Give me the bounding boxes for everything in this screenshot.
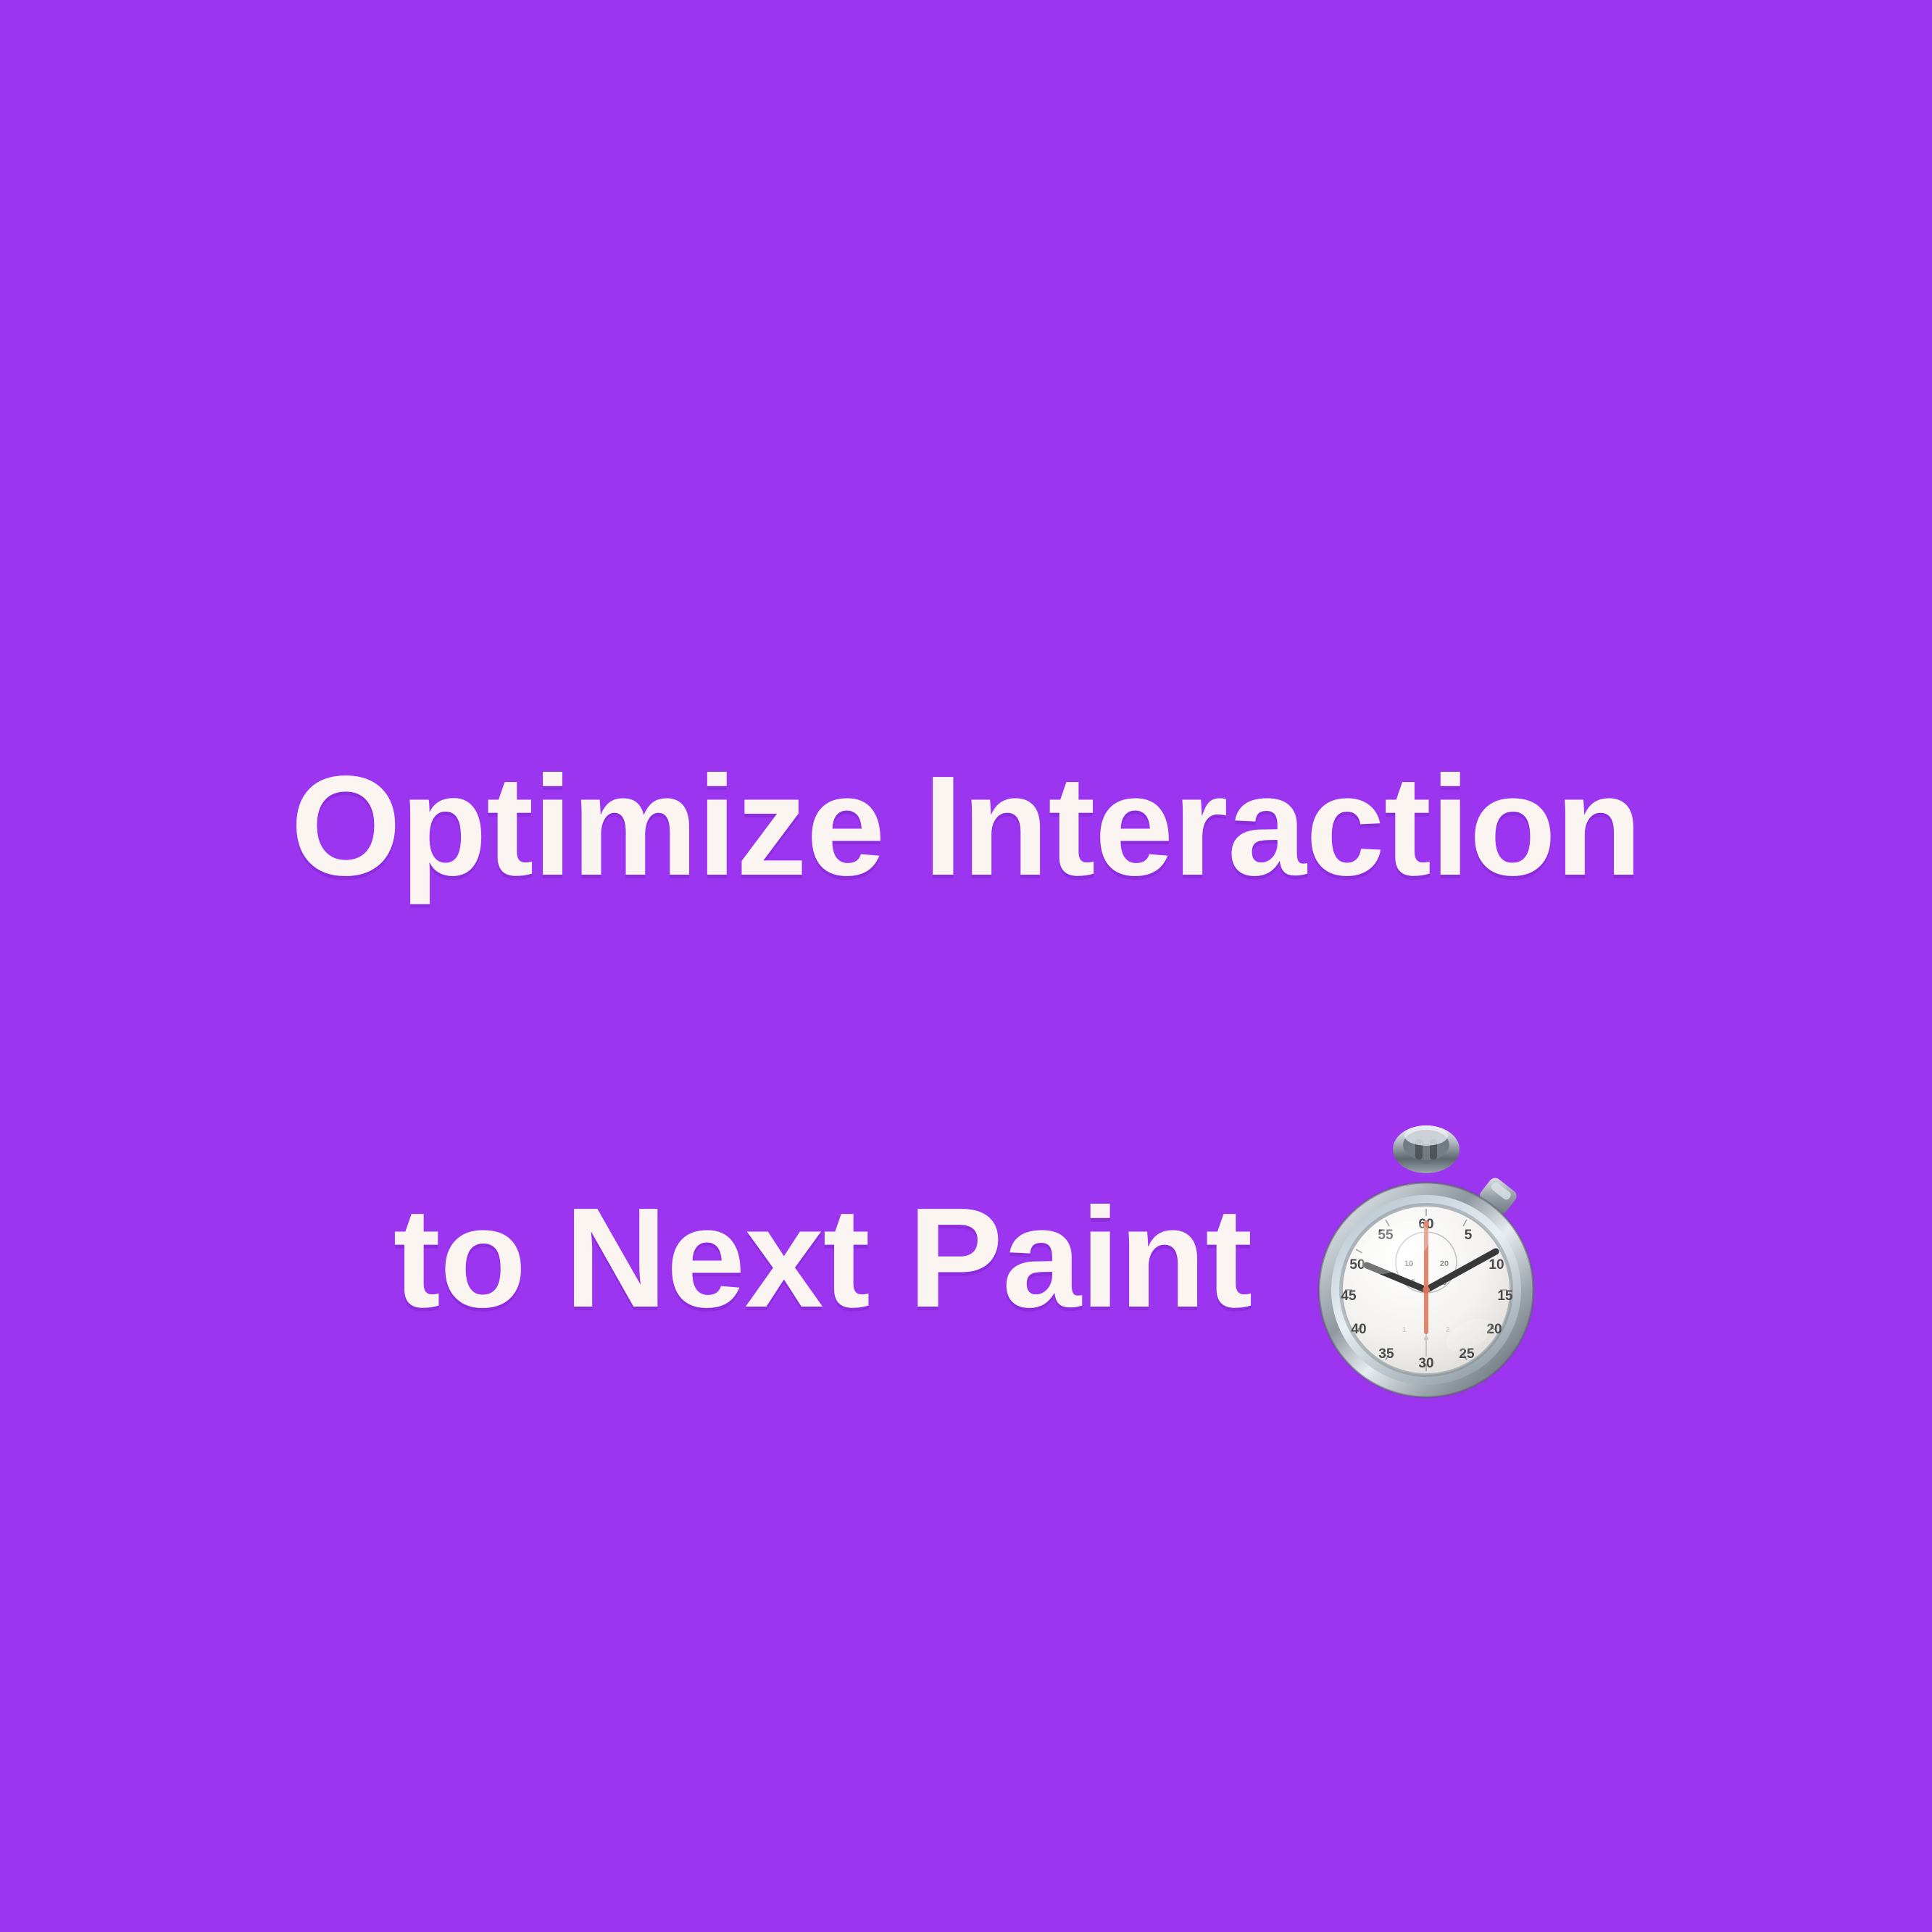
svg-text:35: 35 [1379, 1346, 1395, 1362]
svg-text:1: 1 [1402, 1326, 1407, 1334]
svg-text:40: 40 [1352, 1322, 1367, 1337]
svg-text:10: 10 [1489, 1257, 1504, 1273]
svg-text:2: 2 [1446, 1326, 1450, 1334]
slide-canvas: Optimize Interaction to Next Paint [0, 0, 1932, 1932]
svg-text:45: 45 [1341, 1288, 1357, 1304]
stopwatch-icon: 60 5 10 15 20 25 30 35 40 45 50 55 5 [1314, 1117, 1538, 1407]
page-title-line-1: Optimize Interaction [0, 709, 1932, 897]
title-block: Optimize Interaction to Next Paint [0, 709, 1932, 1403]
svg-text:15: 15 [1498, 1288, 1514, 1304]
svg-text:20: 20 [1440, 1259, 1449, 1268]
title-row-secondary: to Next Paint [0, 1113, 1932, 1403]
svg-text:30: 30 [1419, 1356, 1434, 1371]
svg-text:5: 5 [1465, 1228, 1473, 1243]
page-title-line-2: to Next Paint [394, 1187, 1252, 1329]
